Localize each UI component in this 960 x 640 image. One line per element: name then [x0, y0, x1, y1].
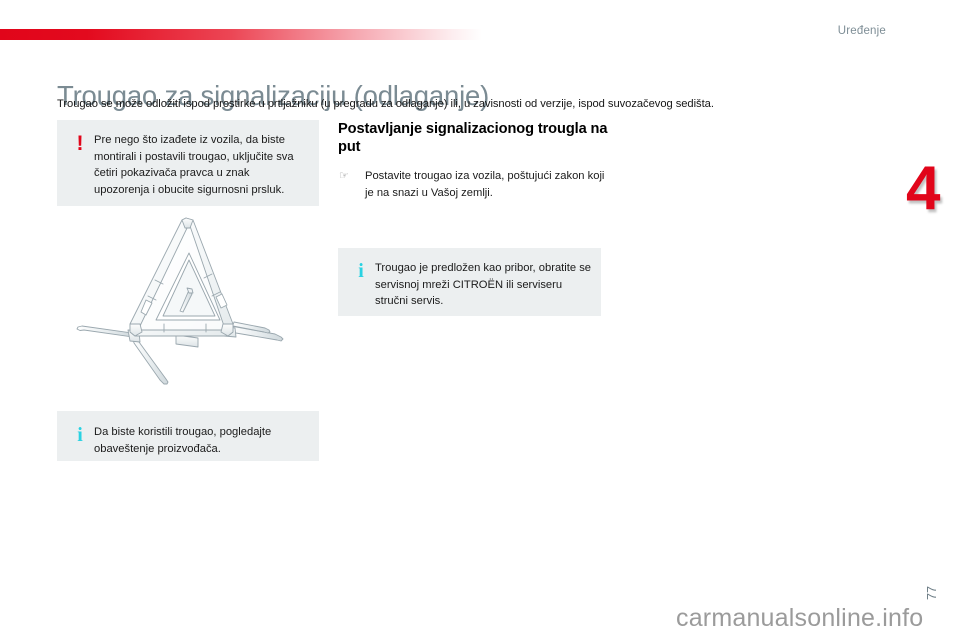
warning-note-box: ! Pre nego što izađete iz vozila, da bis…: [57, 120, 319, 206]
info-note-left-text: Da biste koristili trougao, pogledajte o…: [92, 424, 309, 457]
procedure-step-text: Postavite trougao iza vozila, poštujući …: [365, 168, 613, 201]
page-number: 77: [925, 586, 939, 600]
procedure-heading: Postavljanje signalizacionog trougla na …: [338, 120, 618, 156]
info-icon: i: [349, 260, 373, 281]
warning-note-text: Pre nego što izađete iz vozila, da biste…: [92, 132, 307, 198]
watermark: carmanualsonline.info: [676, 604, 923, 633]
info-icon: i: [68, 424, 92, 445]
section-label: Uređenje: [838, 25, 886, 37]
info-note-box-left: i Da biste koristili trougao, pogledajte…: [57, 411, 319, 461]
info-note-right-text: Trougao je predložen kao pribor, obratit…: [373, 260, 591, 310]
page-subtitle: Trougao se može odložiti ispod prostirke…: [57, 98, 714, 110]
warning-triangle-illustration: [60, 208, 322, 403]
pointing-hand-icon: ☞: [338, 168, 365, 185]
info-note-box-right: i Trougao je predložen kao pribor, obrat…: [338, 248, 601, 316]
procedure-step-list: ☞ Postavite trougao iza vozila, poštujuć…: [338, 168, 613, 201]
header-accent-bar: [0, 29, 482, 40]
exclamation-icon: !: [68, 132, 92, 154]
chapter-number: 4: [906, 158, 940, 220]
procedure-step: ☞ Postavite trougao iza vozila, poštujuć…: [338, 168, 613, 201]
